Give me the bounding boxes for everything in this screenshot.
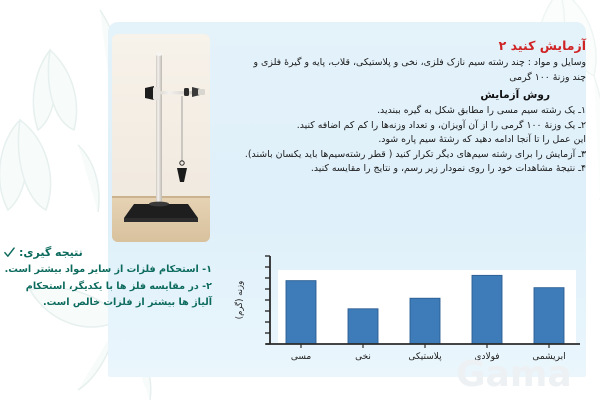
materials-line-1: وسایل و مواد : چند رشته سیم نازک فلزی، ن…	[206, 56, 586, 71]
experiment-photo	[112, 34, 210, 242]
conclusion-line-2: ۲- در مقایسه فلز ها با یکدیگر، استحکام	[4, 279, 212, 296]
chart-x-tick-labels: مسینخیپلاستیکیفولادیابریشمی	[291, 344, 566, 362]
conclusion-title: نتیجه گیری:	[19, 246, 83, 259]
experiment-step-1: ۱ـ یک رشته سیم مسی را مطابق شکل به گیره …	[206, 104, 586, 119]
svg-text:نخی: نخی	[355, 352, 371, 362]
svg-text:وزنه (گرم): وزنه (گرم)	[234, 281, 245, 319]
experiment-text-block: آزمایش کنید ۲ وسایل و مواد : چند رشته سی…	[206, 38, 586, 177]
experiment-step-4: ۴ـ نتیجهٔ مشاهدات خود را روی نمودار زیر …	[206, 162, 586, 177]
page-root: آزمایش کنید ۲ وسایل و مواد : چند رشته سی…	[0, 0, 600, 400]
conclusion-block: نتیجه گیری: ۱- استحکام فلزات از سایر موا…	[4, 246, 212, 312]
bar-chart-svg: مسینخیپلاستیکیفولادیابریشمی وزنه (گرم)	[228, 248, 588, 370]
conclusion-line-3: آلیاژ ها بیشتر از فلزات خالص است.	[4, 295, 212, 312]
svg-text:فولادی: فولادی	[474, 352, 499, 362]
conclusion-line-1: ۱- استحکام فلزات از سایر مواد بیشتر است.	[4, 262, 212, 279]
experiment-step-3: ۳ـ آزمایش را برای رشته سیم‌های دیگر تکرا…	[206, 148, 586, 163]
svg-text:پلاستیکی: پلاستیکی	[408, 352, 442, 362]
strength-bar-chart: مسینخیپلاستیکیفولادیابریشمی وزنه (گرم)	[228, 248, 588, 370]
experiment-step-2-cont: این عمل را تا آنجا ادامه دهید که رشتهٔ س…	[206, 133, 586, 148]
chart-y-axis-label: وزنه (گرم)	[234, 281, 245, 319]
retort-stand-photo-illustration	[112, 34, 210, 242]
materials-line-2: چند وزنهٔ ۱۰۰ گرمی	[206, 71, 586, 86]
svg-text:ابریشمی: ابریشمی	[532, 352, 565, 362]
experiment-title: آزمایش کنید ۲	[206, 38, 586, 53]
check-icon	[4, 247, 15, 258]
conclusion-heading-row: نتیجه گیری:	[4, 246, 212, 259]
experiment-step-2: ۲ـ یک وزنهٔ ۱۰۰ گرمی را از آن آویزان، و …	[206, 119, 586, 134]
method-heading: روش آزمایش	[206, 87, 586, 104]
svg-text:مسی: مسی	[291, 352, 312, 362]
